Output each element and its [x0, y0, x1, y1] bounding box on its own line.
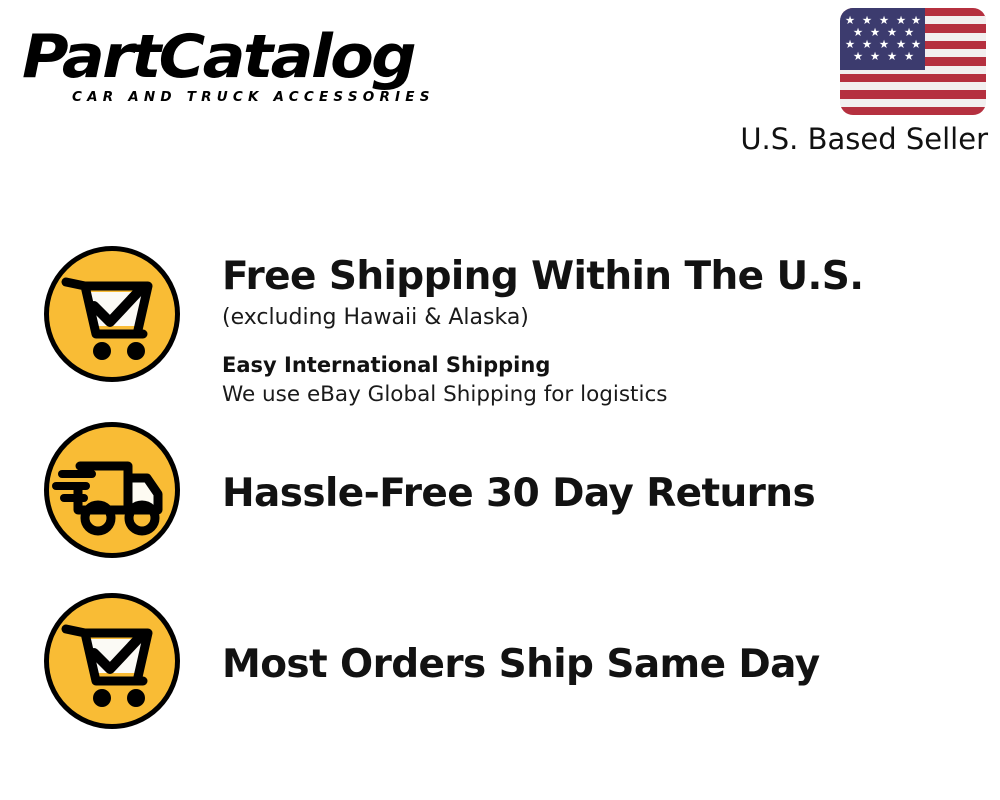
- delivery-truck-glyph: [44, 422, 180, 558]
- feature-sub-note: We use eBay Global Shipping for logistic…: [222, 380, 1000, 409]
- us-flag-icon: ★ ★ ★ ★ ★ ★ ★ ★ ★ ★ ★ ★ ★ ★ ★ ★ ★ ★: [840, 8, 986, 115]
- flag-star: ★: [886, 52, 898, 64]
- flag-star: ★: [886, 28, 898, 40]
- delivery-truck-icon: [40, 418, 192, 570]
- feature-subhead: Easy International Shipping: [222, 351, 1000, 379]
- feature-row: Most Orders Ship Same Day: [0, 589, 1000, 741]
- shopping-cart-check-icon: [40, 589, 192, 741]
- feature-row: Free Shipping Within The U.S. (excluding…: [0, 242, 1000, 394]
- flag-canton: ★ ★ ★ ★ ★ ★ ★ ★ ★ ★ ★ ★ ★ ★ ★ ★ ★ ★: [840, 8, 925, 70]
- flag-star: ★: [844, 40, 856, 52]
- feature-heading: Hassle-Free 30 Day Returns: [222, 471, 1000, 517]
- feature-text-block: Hassle-Free 30 Day Returns: [222, 471, 1000, 517]
- feature-text-block: Free Shipping Within The U.S. (excluding…: [222, 242, 1000, 409]
- cart-check-glyph: [44, 246, 180, 382]
- feature-text-block: Most Orders Ship Same Day: [222, 642, 1000, 688]
- flag-star: ★: [878, 40, 890, 52]
- flag-star: ★: [861, 40, 873, 52]
- us-based-seller-badge: ★ ★ ★ ★ ★ ★ ★ ★ ★ ★ ★ ★ ★ ★ ★ ★ ★ ★ U.S.…: [700, 8, 990, 156]
- flag-star: ★: [910, 16, 922, 28]
- flag-star: ★: [869, 28, 881, 40]
- flag-star: ★: [861, 16, 873, 28]
- flag-star: ★: [852, 28, 864, 40]
- feature-heading: Most Orders Ship Same Day: [222, 642, 1000, 688]
- feature-heading: Free Shipping Within The U.S.: [222, 254, 1000, 300]
- flag-star: ★: [844, 16, 856, 28]
- shopping-cart-check-icon: [40, 242, 192, 394]
- flag-star: ★: [903, 28, 915, 40]
- cart-check-glyph: [44, 593, 180, 729]
- flag-star: ★: [903, 52, 915, 64]
- flag-star: ★: [895, 40, 907, 52]
- flag-star: ★: [910, 40, 922, 52]
- page-header: PartCatalog CAR AND TRUCK ACCESSORIES ★ …: [0, 0, 1000, 170]
- flag-star: ★: [852, 52, 864, 64]
- partcatalog-logo[interactable]: PartCatalog CAR AND TRUCK ACCESSORIES: [22, 26, 492, 105]
- feature-row: Hassle-Free 30 Day Returns: [0, 418, 1000, 570]
- feature-note: (excluding Hawaii & Alaska): [222, 303, 1000, 333]
- us-based-seller-label: U.S. Based Seller: [700, 122, 988, 156]
- flag-star: ★: [895, 16, 907, 28]
- brand-wordmark: PartCatalog: [22, 26, 520, 88]
- flag-star: ★: [878, 16, 890, 28]
- flag-stripe: [840, 107, 986, 115]
- flag-star: ★: [869, 52, 881, 64]
